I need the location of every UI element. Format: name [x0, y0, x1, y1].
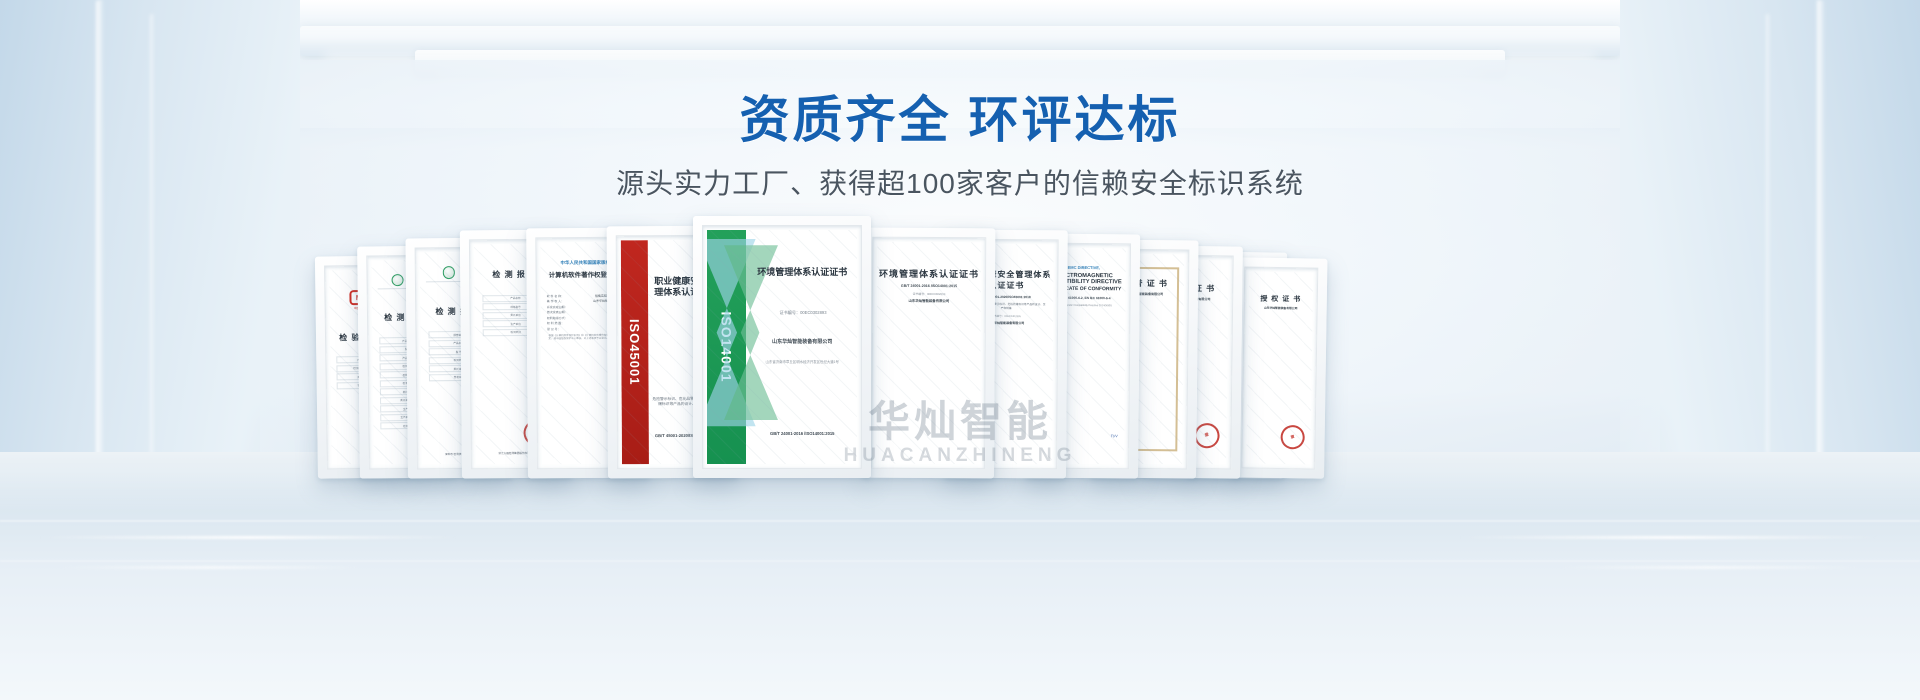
certificate-mat: ISO14001 环境管理体系认证证书 证书编号：00EC0302893山东华灿…	[702, 225, 862, 469]
certificate-watermark	[876, 242, 981, 465]
certificate-mat: 环境管理体系认证证书GB/T 24001-2016 /ISO14001:2015…	[871, 237, 986, 470]
certificate-item[interactable]: 授 权 证 书山东华灿智能装备有限公司章	[1232, 257, 1327, 478]
certificate-watermark	[1246, 272, 1313, 465]
page-subtitle: 源头实力工厂、获得超100家客户的信赖安全标识系统	[0, 162, 1920, 202]
certificate-item[interactable]: 环境管理体系认证证书GB/T 24001-2016 /ISO14001:2015…	[862, 228, 995, 479]
certificate-frame: 环境管理体系认证证书GB/T 24001-2016 /ISO14001:2015…	[862, 228, 995, 479]
banner-copy: 资质齐全 环评达标 源头实力工厂、获得超100家客户的信赖安全标识系统	[0, 92, 1920, 202]
certificate-frame: 授 权 证 书山东华灿智能装备有限公司章	[1232, 257, 1327, 478]
certificate-item[interactable]: ISO14001 环境管理体系认证证书 证书编号：00EC0302893山东华灿…	[693, 216, 871, 478]
page-title: 资质齐全 环评达标	[0, 92, 1920, 148]
certificate-paper: ISO14001 环境管理体系认证证书 证书编号：00EC0302893山东华灿…	[707, 230, 857, 464]
certificate-frame: ISO14001 环境管理体系认证证书 证书编号：00EC0302893山东华灿…	[693, 216, 871, 478]
promo-banner: 资质齐全 环评达标 源头实力工厂、获得超100家客户的信赖安全标识系统 MA 中…	[0, 0, 1920, 700]
certificate-mat: 授 权 证 书山东华灿智能装备有限公司章	[1241, 266, 1318, 469]
certificate-paper: 授 权 证 书山东华灿智能装备有限公司章	[1246, 272, 1313, 465]
certificate-watermark	[707, 230, 857, 464]
certificate-paper: 环境管理体系认证证书GB/T 24001-2016 /ISO14001:2015…	[876, 242, 981, 465]
